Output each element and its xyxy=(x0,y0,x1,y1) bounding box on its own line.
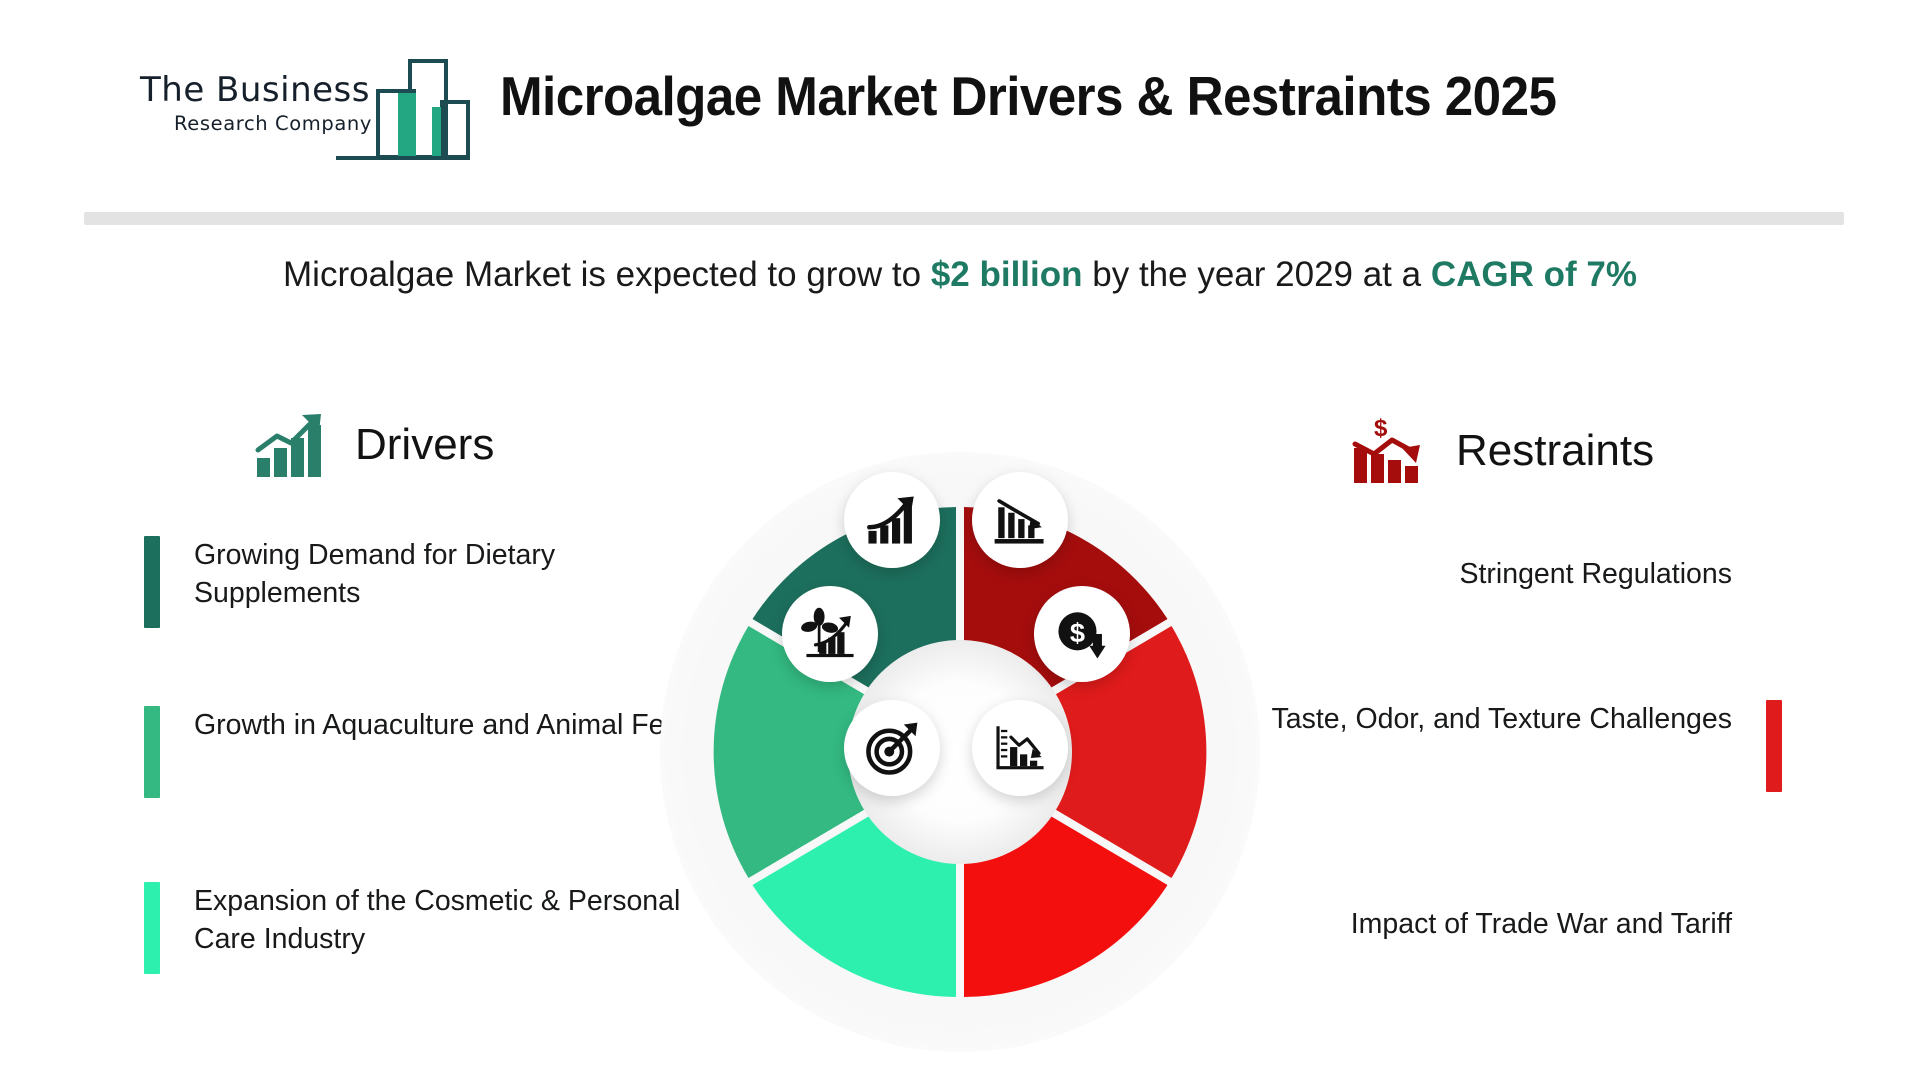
wheel-badge-falling-line[interactable] xyxy=(972,700,1068,796)
wheel-badge-declining-chart[interactable] xyxy=(972,472,1068,568)
logo-line-2: Research Company xyxy=(174,112,345,135)
wheel-badge-growth-chart[interactable] xyxy=(844,472,940,568)
target-arrow-icon xyxy=(863,719,921,777)
header-divider xyxy=(84,212,1844,225)
summary-part-2: by the year 2029 at a xyxy=(1083,255,1431,294)
page-title: Microalgae Market Drivers & Restraints 2… xyxy=(500,58,1597,134)
drivers-header: Drivers xyxy=(255,412,494,478)
plant-growth-chart-icon xyxy=(801,605,859,663)
wheel-segments xyxy=(660,452,1260,1052)
summary-cagr-highlight: CAGR of 7% xyxy=(1431,255,1637,294)
driver-text-2: Growth in Aquaculture and Animal Feed xyxy=(194,706,696,798)
rising-bar-chart-arrow-icon xyxy=(255,412,329,478)
infographic-page: The Business Research Company Microalgae… xyxy=(0,0,1920,1080)
restraint-item-3: Impact of Trade War and Tariff xyxy=(1222,878,1782,970)
summary-part-1: Microalgae Market is expected to grow to xyxy=(283,255,931,294)
driver-accent-bar-3 xyxy=(144,882,160,974)
driver-item-1: Growing Demand for Dietary Supplements xyxy=(144,536,704,628)
restraints-header: $ Restraints xyxy=(1352,418,1654,484)
svg-text:$: $ xyxy=(1374,418,1388,442)
driver-text-1: Growing Demand for Dietary Supplements xyxy=(194,536,704,628)
wheel-badge-target[interactable] xyxy=(844,700,940,796)
drivers-label: Drivers xyxy=(355,420,494,470)
summary-value-highlight: $2 billion xyxy=(931,255,1083,294)
restraint-item-1: Stringent Regulations xyxy=(1222,528,1782,620)
restraint-text-3: Impact of Trade War and Tariff xyxy=(1222,878,1732,970)
driver-text-3: Expansion of the Cosmetic & Personal Car… xyxy=(194,882,704,974)
driver-item-2: Growth in Aquaculture and Animal Feed xyxy=(144,706,704,798)
dollar-down-arrow-icon: $ xyxy=(1053,605,1111,663)
restraint-text-2: Taste, Odor, and Texture Challenges xyxy=(1222,700,1732,792)
wheel-badge-dollar-down[interactable]: $ xyxy=(1034,586,1130,682)
logo-wordmark: The Business Research Company xyxy=(140,73,345,135)
growth-chart-arrow-icon xyxy=(863,491,921,549)
restraint-item-2: Taste, Odor, and Texture Challenges xyxy=(1222,700,1782,792)
driver-item-3: Expansion of the Cosmetic & Personal Car… xyxy=(144,882,704,974)
restraints-label: Restraints xyxy=(1456,426,1654,476)
wheel-badge-plant-growth[interactable] xyxy=(782,586,878,682)
segmented-wheel-diagram: $ xyxy=(660,452,1260,1052)
market-summary-text: Microalgae Market is expected to grow to… xyxy=(0,252,1920,298)
driver-accent-bar-2 xyxy=(144,706,160,798)
driver-accent-bar-1 xyxy=(144,536,160,628)
header: The Business Research Company Microalgae… xyxy=(0,0,1920,190)
falling-line-chart-icon xyxy=(991,719,1049,777)
falling-bar-chart-dollar-icon: $ xyxy=(1352,418,1426,484)
declining-bar-chart-icon xyxy=(991,491,1049,549)
restraint-accent-bar-2 xyxy=(1766,700,1782,792)
company-logo: The Business Research Company xyxy=(140,55,470,170)
bar-chart-logo-icon xyxy=(336,55,470,163)
svg-text:$: $ xyxy=(1070,617,1085,648)
logo-line-1: The Business xyxy=(140,73,345,107)
restraint-text-1: Stringent Regulations xyxy=(1222,528,1732,620)
